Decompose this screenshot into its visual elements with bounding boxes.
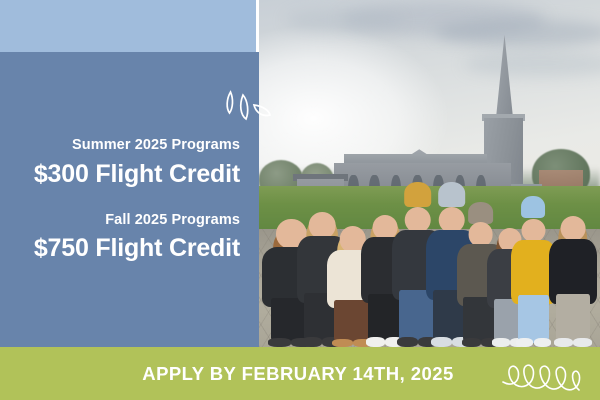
apply-deadline-text: APPLY BY FEBRUARY 14TH, 2025	[0, 347, 600, 400]
cloud	[286, 9, 402, 33]
apply-banner: APPLY BY FEBRUARY 14TH, 2025	[0, 347, 600, 400]
cloud	[464, 52, 600, 78]
student-group	[259, 201, 600, 347]
promo-offer-list: Summer 2025 Programs $300 Flight Credit …	[0, 52, 240, 347]
panel-top-light-band	[0, 0, 256, 52]
promo-headline-summer: $300 Flight Credit	[34, 159, 240, 189]
promo-offer-summer: Summer 2025 Programs $300 Flight Credit	[34, 136, 240, 189]
cloud	[436, 19, 600, 47]
promo-subtitle-fall: Fall 2025 Programs	[34, 211, 240, 231]
promo-offer-fall: Fall 2025 Programs $750 Flight Credit	[34, 211, 240, 264]
promo-subtitle-summer: Summer 2025 Programs	[34, 136, 240, 156]
promo-poster: Summer 2025 Programs $300 Flight Credit …	[0, 0, 600, 400]
group-photo	[259, 0, 600, 347]
promo-headline-fall: $750 Flight Credit	[34, 233, 240, 263]
person	[549, 211, 597, 347]
